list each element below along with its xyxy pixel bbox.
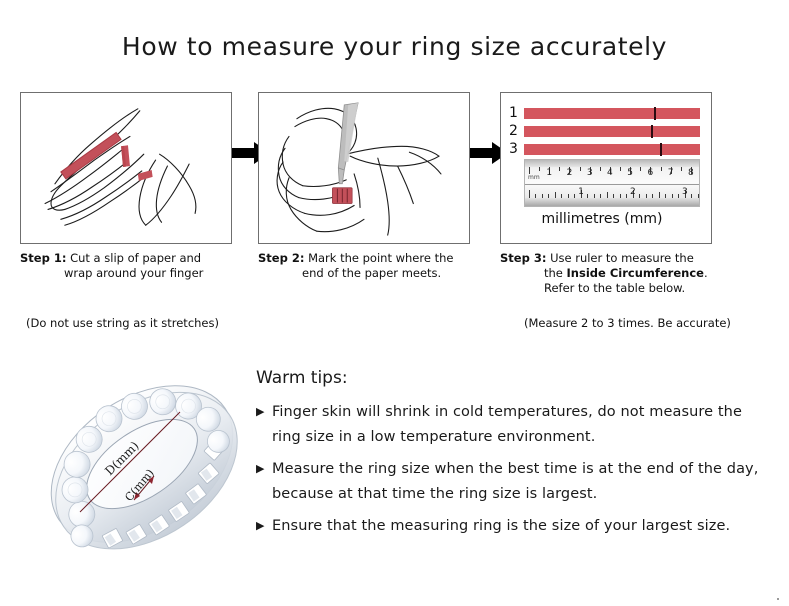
ruler-divider — [525, 184, 699, 185]
step-3-line1: Use ruler to measure the — [550, 251, 694, 265]
paper-strip-3 — [524, 144, 700, 155]
ring-diagram: D(mm) C(mm) — [28, 352, 256, 582]
ruler-graphic: 12345678 123 mm — [524, 159, 700, 207]
ruler-cm-label: 2 — [567, 168, 573, 178]
step-2-caption: Step 2: Mark the point where the end of … — [258, 251, 483, 281]
ruler-inch-tick — [568, 194, 569, 198]
corner-artifact — [777, 598, 779, 600]
warm-tips-list: ▶Finger skin will shrink in cold tempera… — [256, 400, 766, 546]
ruler-cm-tick — [559, 167, 560, 171]
ruler-inch-tick — [607, 192, 608, 198]
paper-strip-row-1: 1 — [509, 105, 700, 121]
ruler-inch-tick — [698, 194, 699, 198]
ruler-cm-tick — [620, 167, 621, 171]
strip-number-3: 3 — [509, 141, 524, 157]
bullet-triangle-icon: ▶ — [256, 400, 272, 450]
ruler-inch-tick — [548, 194, 549, 198]
step-3-line2: the Inside Circumference. — [500, 266, 770, 281]
hand-with-paper-strip-icon — [21, 93, 231, 243]
ruler-inch-tick — [672, 194, 673, 198]
ruler-cm-tick — [681, 167, 682, 171]
ruler-inch-tick — [626, 194, 627, 198]
ruler-inch-tick — [652, 194, 653, 198]
ruler-cm-label: 5 — [627, 168, 633, 178]
ruler-inch-tick — [665, 194, 666, 198]
strip-mark-1 — [654, 107, 656, 120]
warm-tip-item: ▶Ensure that the measuring ring is the s… — [256, 514, 766, 539]
warm-tip-text: Finger skin will shrink in cold temperat… — [272, 400, 766, 450]
ruler-inch-tick — [659, 192, 660, 198]
step-3-line2-bold: Inside Circumference — [567, 266, 704, 280]
ruler-inch-tick — [691, 194, 692, 198]
step-1-line1: Cut a slip of paper and — [70, 251, 201, 265]
step-1-label: Step 1: — [20, 251, 66, 265]
ruler-cm-label: 1 — [546, 168, 552, 178]
ruler-cm-label: 4 — [607, 168, 613, 178]
step-1-note: (Do not use string as it stretches) — [26, 316, 219, 330]
warm-tip-text: Ensure that the measuring ring is the si… — [272, 514, 730, 539]
step-1-caption: Step 1: Cut a slip of paper and wrap aro… — [20, 251, 248, 281]
warm-tips-heading: Warm tips: — [256, 368, 348, 388]
step-2-line2: end of the paper meets. — [258, 266, 483, 281]
bullet-triangle-icon: ▶ — [256, 457, 272, 507]
paper-strip-1 — [524, 108, 700, 119]
ruler-inch-label: 1 — [578, 187, 584, 197]
ruler-inch-tick — [574, 194, 575, 198]
step-3-line3: Refer to the table below. — [500, 281, 770, 296]
ruler-unit-label: millimetres (mm) — [501, 211, 711, 227]
step-2-illustration-panel — [258, 92, 470, 244]
strip-mark-3 — [660, 143, 662, 156]
strip-number-1: 1 — [509, 105, 524, 121]
step-3-caption: Step 3: Use ruler to measure the the Ins… — [500, 251, 770, 296]
ruler-cm-tick — [600, 167, 601, 171]
ruler-inch-tick — [678, 194, 679, 198]
step-3-line2-pre: the — [544, 266, 567, 280]
paper-strip-row-3: 3 — [509, 141, 700, 157]
ruler-cm-tick — [580, 167, 581, 171]
ruler-inch-label: 3 — [682, 187, 688, 197]
ruler-cm-tick — [661, 167, 662, 171]
paper-strip-row-2: 2 — [509, 123, 700, 139]
step-1-line2: wrap around your finger — [20, 266, 248, 281]
strip-number-2: 2 — [509, 123, 524, 139]
ruler-top-edge — [525, 160, 699, 167]
strip-mark-2 — [651, 125, 653, 138]
ruler-inch-tick — [555, 192, 556, 198]
ruler-inch-tick — [561, 194, 562, 198]
ruler-inch-tick — [620, 194, 621, 198]
ruler-inch-label: 2 — [630, 187, 636, 197]
ring-photo-illustration-icon: D(mm) C(mm) — [28, 352, 256, 582]
ruler-cm-tick — [640, 167, 641, 171]
ruler-inch-tick — [594, 194, 595, 198]
ruler-cm-label: 8 — [688, 168, 694, 178]
warm-tip-item: ▶Measure the ring size when the best tim… — [256, 457, 766, 507]
step-1-illustration-panel — [20, 92, 232, 244]
ruler-cm-tick — [539, 167, 540, 171]
step-3-line2-post: . — [704, 266, 708, 280]
ruler-mm-tag: mm — [528, 174, 540, 181]
ruler-cm-label: 3 — [587, 168, 593, 178]
ruler-bottom-edge — [525, 198, 699, 206]
hand-marking-paper-with-pen-icon — [259, 93, 469, 243]
ruler-inch-tick — [542, 194, 543, 198]
ruler-cm-tick — [529, 167, 530, 174]
step-3-note: (Measure 2 to 3 times. Be accurate) — [524, 316, 731, 330]
page-title: How to measure your ring size accurately — [0, 32, 789, 61]
ruler-inch-tick — [535, 194, 536, 198]
step-3-illustration-panel: 1 2 3 12345678 123 mm millimetres (mm) — [500, 92, 712, 244]
step-2-label: Step 2: — [258, 251, 304, 265]
ruler-inch-tick — [646, 194, 647, 198]
ruler-cm-label: 6 — [648, 168, 654, 178]
paper-strip-2 — [524, 126, 700, 137]
step-2-line1: Mark the point where the — [308, 251, 453, 265]
ruler-inch-tick — [587, 194, 588, 198]
ruler-inch-tick — [613, 194, 614, 198]
ruler-cm-label: 7 — [668, 168, 674, 178]
ruler-inch-tick — [639, 194, 640, 198]
warm-tip-item: ▶Finger skin will shrink in cold tempera… — [256, 400, 766, 450]
warm-tip-text: Measure the ring size when the best time… — [272, 457, 766, 507]
bullet-triangle-icon: ▶ — [256, 514, 272, 539]
step-3-label: Step 3: — [500, 251, 546, 265]
ruler-inch-tick — [600, 194, 601, 198]
ruler-inch-tick — [529, 190, 530, 198]
